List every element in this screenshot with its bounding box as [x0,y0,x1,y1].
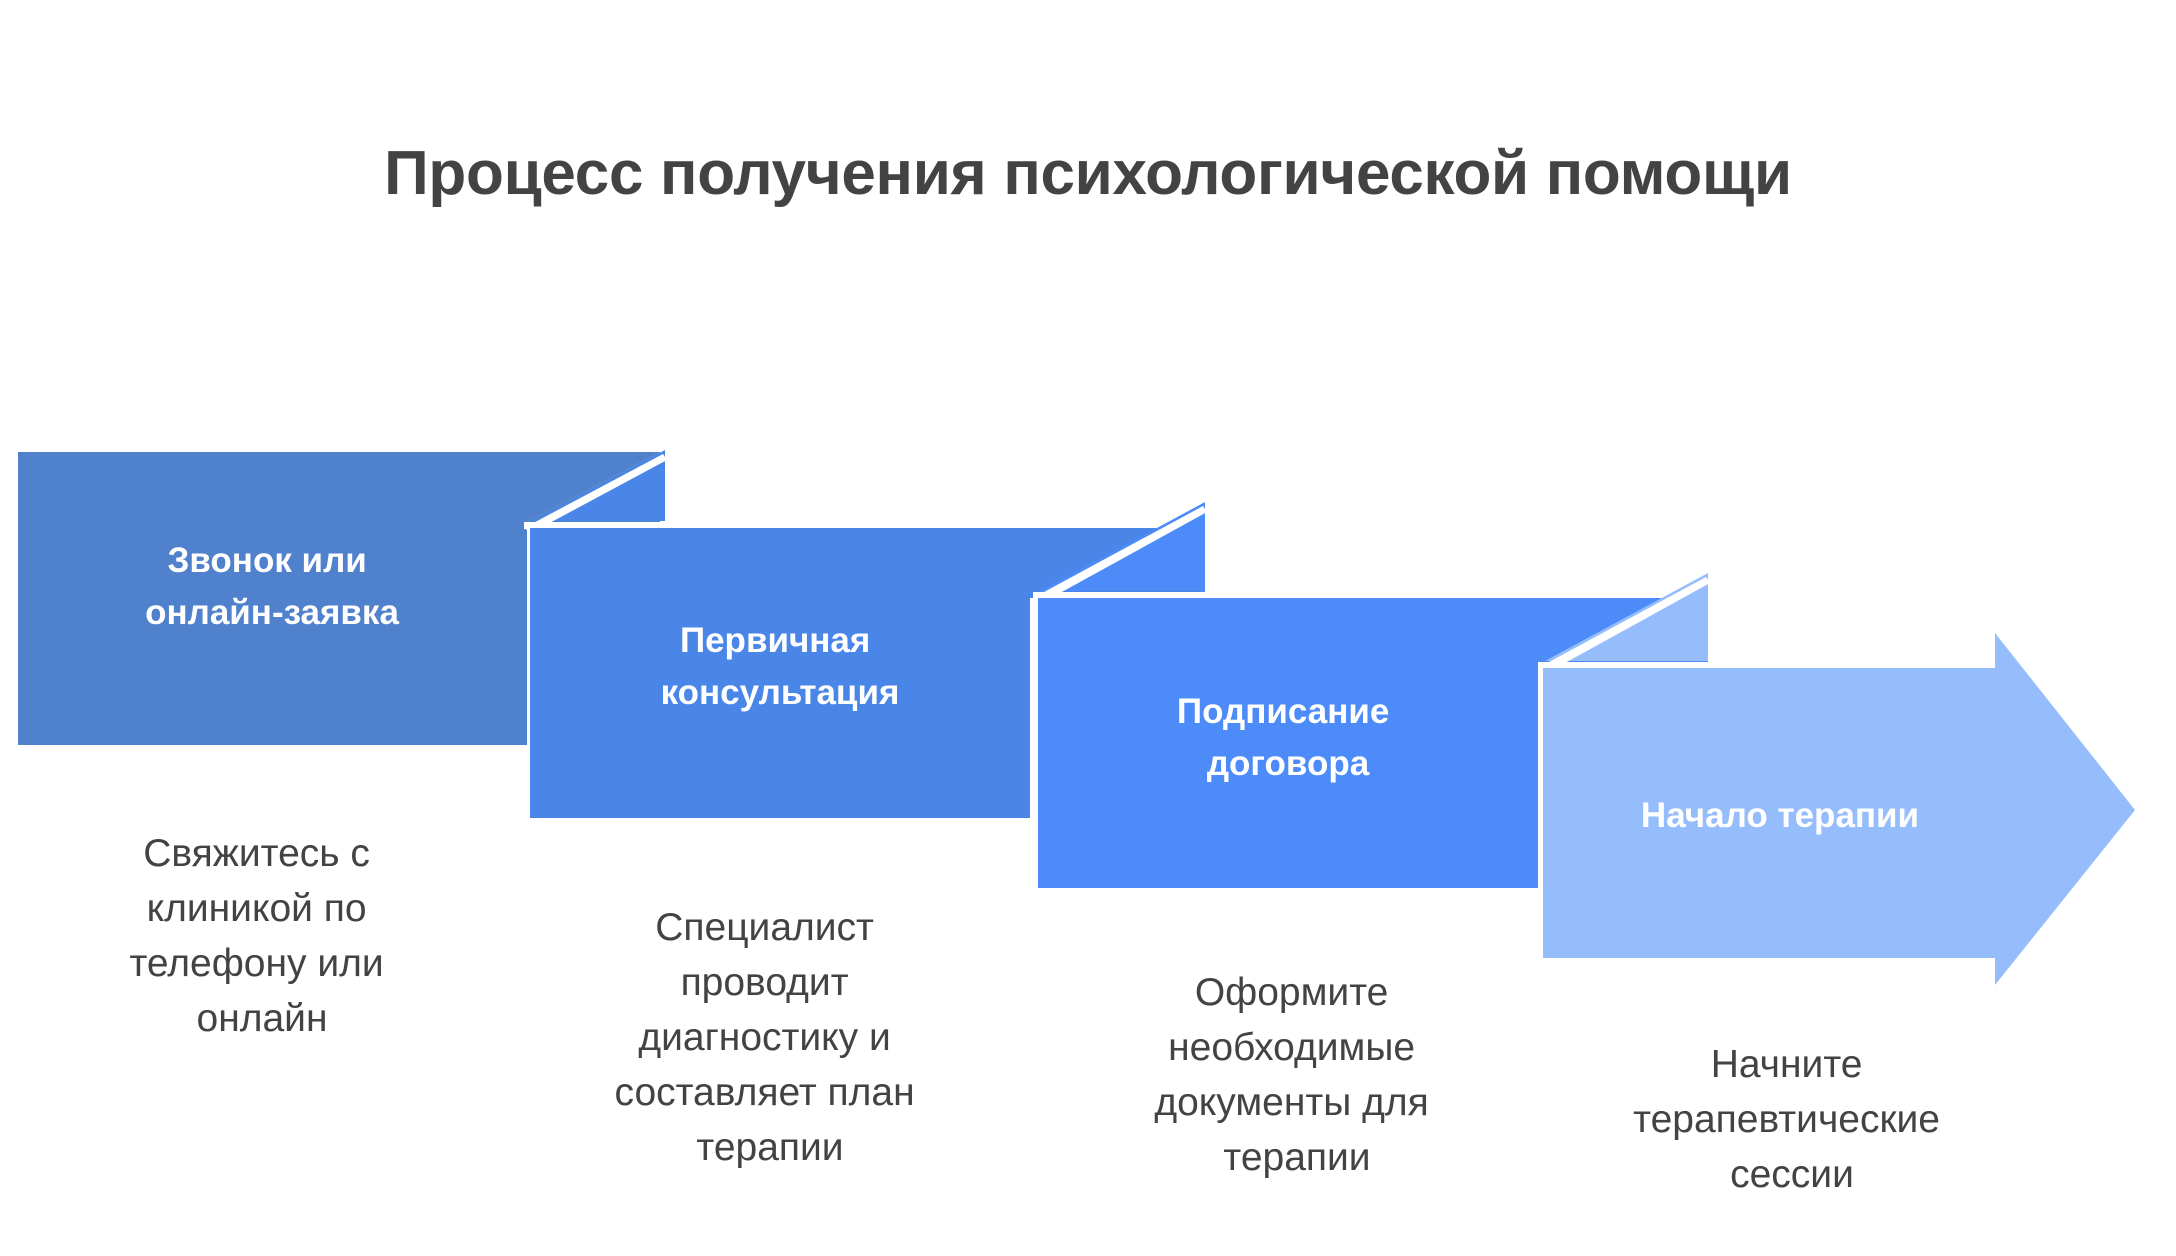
step-3-caption-line-3: документы для [1154,1081,1428,1124]
step-3-caption-line-1: Оформите [1195,971,1389,1014]
step-3-caption: Оформите необходимые документы для терап… [1154,971,1439,1179]
process-diagram: Звонок или онлайн-заявка Свяжитесь с кли… [0,0,2176,1256]
step-2-3-divider-h [1033,592,1208,599]
step-2-caption-line-2: проводит [681,961,849,1004]
step-2-caption-line-1: Специалист [655,906,874,949]
step-1-caption-line-4: онлайн [197,997,328,1040]
step-4-label-line-1: Начало терапии [1641,796,1919,835]
process-step-4[interactable]: Начало терапии Начните терапевтические с… [1538,573,2135,1196]
step-1-caption-line-1: Свяжитесь с [143,832,370,875]
step-2-caption-line-5: терапии [696,1126,843,1169]
step-3-caption-line-2: необходимые [1168,1026,1415,1069]
step-1-caption-line-2: клиникой по [147,887,367,930]
step-3-caption-line-4: терапии [1223,1136,1370,1179]
step-2-label-line-2: консультация [661,673,900,712]
step-2-label-line-1: Первичная [680,621,870,660]
step-3-label-line-1: Подписание [1177,692,1389,731]
step-3-label-line-2: договора [1207,744,1370,783]
step-4-caption: Начните терапевтические сессии [1633,1043,1951,1196]
step-2-caption-line-3: диагностику и [638,1016,890,1059]
step-4-caption-line-3: сессии [1730,1153,1854,1196]
slide-canvas: Процесс получения психологической помощи… [0,0,2176,1256]
step-3-4-divider-h [1538,662,1710,669]
step-1-caption-line-3: телефону или [129,942,383,985]
step-4-caption-line-1: Начните [1711,1043,1863,1086]
step-1-2-divider-h [524,522,669,529]
step-1-label-line-1: Звонок или [167,541,366,580]
step-2-caption: Специалист проводит диагностику и состав… [615,906,926,1169]
step-3-shape[interactable] [1038,598,1538,888]
step-4-label: Начало терапии [1641,796,1919,835]
step-1-label-line-2: онлайн-заявка [145,593,399,632]
step-1-caption: Свяжитесь с клиникой по телефону или онл… [129,832,394,1040]
step-4-caption-line-2: терапевтические [1633,1098,1940,1141]
step-2-caption-line-4: составляет план [615,1071,915,1114]
